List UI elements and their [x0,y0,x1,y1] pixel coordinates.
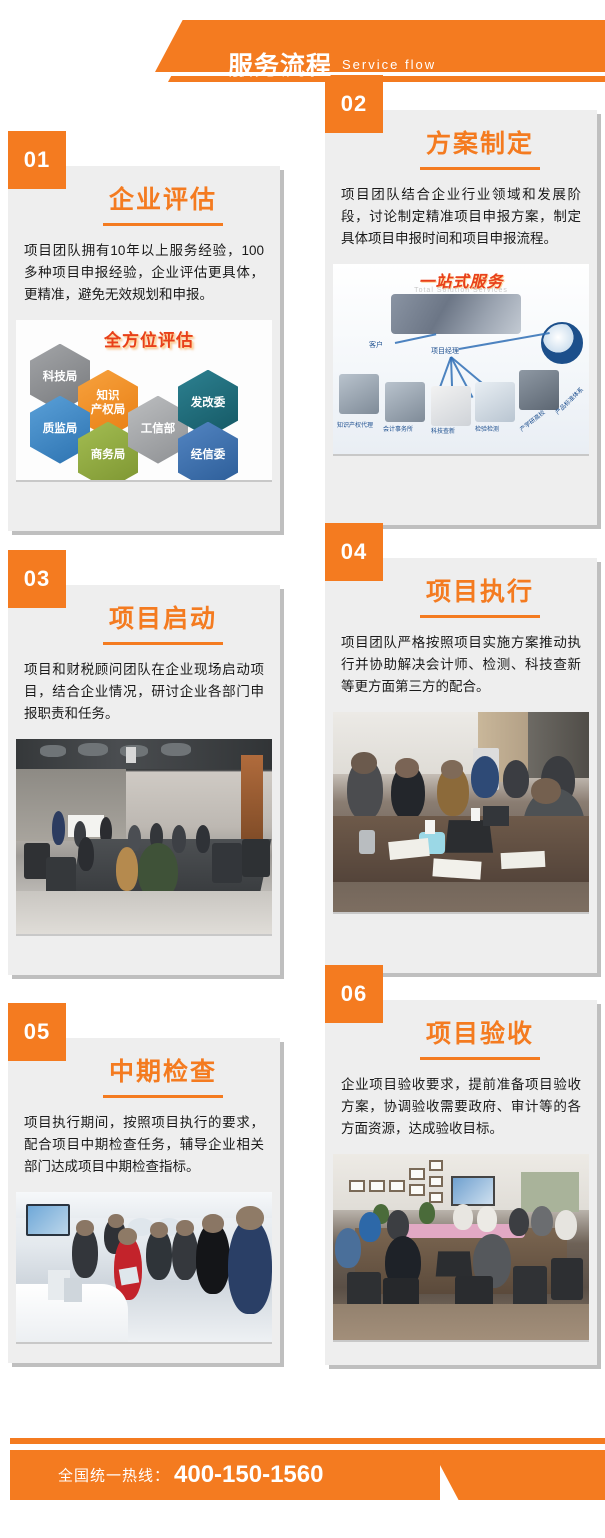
header-banner-skew [155,20,605,72]
step-description: 项目团队严格按照项目实施方案推动执行并协助解决会计师、检测、科技查新等更方面第三… [325,618,597,708]
service-flow-poster: 服务流程Service flow 01 企业评估 项目团队拥有10年以上服务经验… [0,0,605,1538]
service-label-ip: 知识产权代理 [337,420,373,429]
footer-thin-stripe [10,1438,428,1444]
project-manager-label: 项目经理 [431,346,459,356]
footer-bar-skew [432,1450,605,1500]
step-number-badge: 05 [8,1003,66,1061]
step-card-03: 03 项目启动 项目和财税顾问团队在企业现场启动项目，结合企业情况，研讨企业各部… [8,585,280,975]
step-card-04: 04 项目执行 项目团队严格按照项目实施方案推动执行并协助解决会计师、检测、科技… [325,558,597,973]
service-thumb-novelty [431,386,471,426]
step-card-02: 02 方案制定 项目团队结合企业行业领域和发展阶段，讨论制定精准项目申报方案，制… [325,110,597,525]
step-number-badge: 02 [325,75,383,133]
step-number-badge: 06 [325,965,383,1023]
arrow-icon [459,332,550,350]
service-thumb-university [519,370,559,410]
title-underline [420,167,540,170]
step-card-05: 05 中期检查 项目执行期间，按照项目执行的要求，配合项目中期检查任务，辅导企业… [8,1038,280,1363]
title-underline [103,642,223,645]
title-underline [420,1057,540,1060]
page-footer: 全国统一热线：400-150-1560 [0,1420,605,1538]
service-thumb-testing [475,382,515,422]
step-description: 项目执行期间，按照项目执行的要求，配合项目中期检查任务，辅导企业相关部门达成项目… [8,1098,280,1188]
header-underline-fill [260,76,605,82]
arrow-icon [395,333,436,344]
step-number-badge: 03 [8,550,66,608]
header-banner-fill [250,20,605,72]
title-underline [420,615,540,618]
team-working-session-photo [333,712,589,912]
page-header: 服务流程Service flow [0,20,605,82]
step-number-badge: 04 [325,523,383,581]
acceptance-review-meeting-photo [333,1154,589,1340]
meeting-photo-thumb [391,294,521,334]
iso-seal-icon [541,322,583,364]
header-underline-skew [168,76,605,82]
footer-thin-stripe-skew [420,1438,605,1444]
hotline-number[interactable]: 400-150-1560 [174,1461,323,1488]
one-stop-subtitle: Total Solution Services [414,287,508,294]
service-thumb-ip [339,374,379,414]
step-card-06: 06 项目验收 企业项目验收要求，提前准备项目验收方案，协调验收需要政府、审计等… [325,1000,597,1365]
service-label-university: 产学研高校 [517,407,546,433]
service-thumb-accounting [385,382,425,422]
one-stop-service-diagram: 一站式服务 Total Solution Services 客户 项目经理 知识… [333,264,589,454]
title-underline [103,1095,223,1098]
all-round-assessment-diagram: 全方位评估 科技局 知识产权局 质监局 商务局 工信部 发改委 经信委 [16,320,272,480]
title-underline [103,223,223,226]
hex-diagram-title: 全方位评估 [104,326,194,351]
service-label-novelty: 科技查新 [431,426,455,435]
hotline-label: 全国统一热线： [58,1468,170,1485]
conference-room-kickoff-photo [16,739,272,934]
onsite-showroom-visit-photo [16,1192,272,1342]
page-title: 服务流程 [228,52,332,80]
step-card-01: 01 企业评估 项目团队拥有10年以上服务经验，100多种项目申报经验，企业评估… [8,166,280,531]
step-description: 企业项目验收要求，提前准备项目验收方案，协调验收需要政府、审计等的各方面资源，达… [325,1060,597,1150]
client-label: 客户 [369,340,383,350]
service-label-accounting: 会计事务所 [383,424,413,433]
step-description: 项目团队拥有10年以上服务经验，100多种项目申报经验，企业评估更具体，更精准，… [8,226,280,316]
page-subtitle: Service flow [342,57,436,72]
service-label-testing: 检验检测 [475,424,499,433]
hotline-group: 全国统一热线：400-150-1560 [58,1461,323,1489]
step-description: 项目和财税顾问团队在企业现场启动项目，结合企业情况，研讨企业各部门申报职责和任务… [8,645,280,735]
step-number-badge: 01 [8,131,66,189]
step-description: 项目团队结合企业行业领域和发展阶段，讨论制定精准项目申报方案，制定具体项目申报时… [325,170,597,260]
